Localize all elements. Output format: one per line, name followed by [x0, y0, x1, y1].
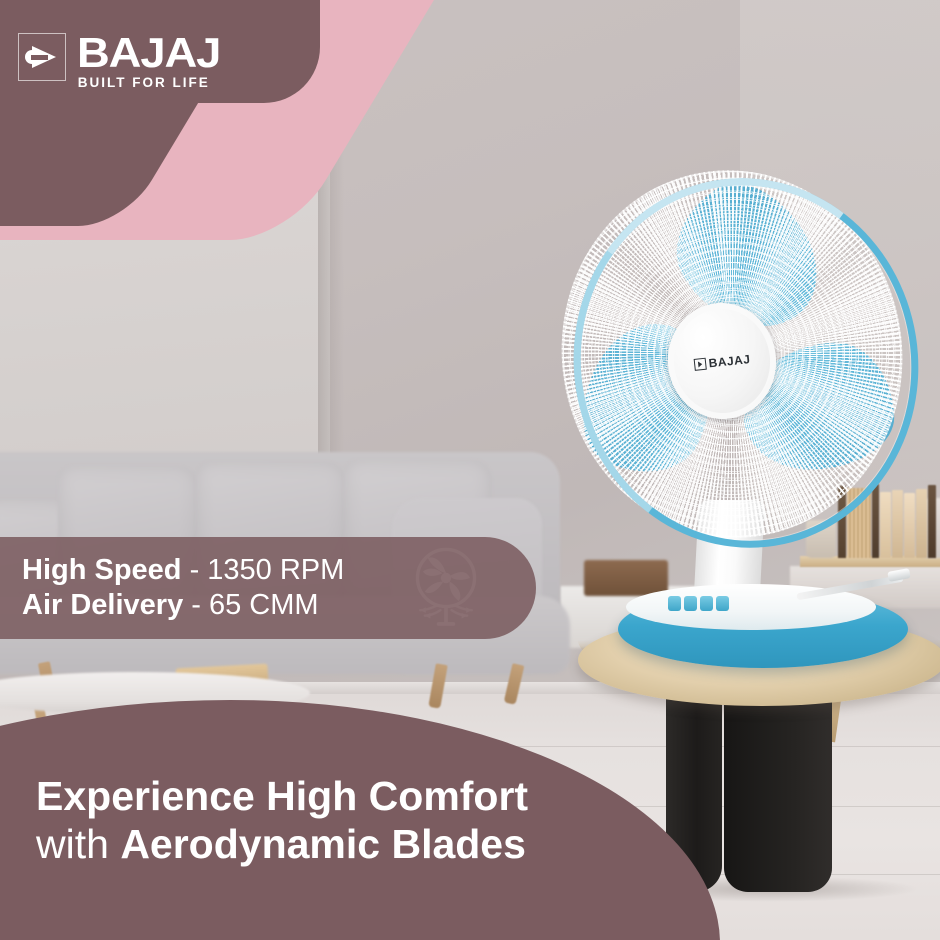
brand-tagline: BUILT FOR LIFE [77, 75, 210, 90]
bajaj-arrow-icon [18, 33, 66, 81]
brand-logo: BAJAJ BUILT FOR LIFE [18, 33, 210, 90]
fan-speed-buttons[interactable] [668, 596, 729, 611]
brand-logo-words: BAJAJ BUILT FOR LIFE [77, 33, 210, 90]
bajaj-arrow-icon [693, 358, 706, 371]
fan-handle-tip [887, 568, 910, 582]
headline-line-2-bold: Aerodynamic Blades [120, 821, 526, 867]
fan-speed-button-1[interactable] [668, 596, 681, 611]
feature-value-air-delivery: - 65 CMM [191, 589, 318, 621]
fan-hub-logo-text: BAJAJ [708, 352, 751, 370]
brand-name: BAJAJ [77, 33, 220, 72]
headline-line-2: with Aerodynamic Blades [36, 820, 528, 868]
feature-badge: High Speed - 1350 RPM Air Delivery - 65 … [0, 537, 536, 639]
fan-hub-logo: BAJAJ [693, 352, 751, 372]
side-table-base [724, 686, 832, 892]
feature-text-block: High Speed - 1350 RPM Air Delivery - 65 … [22, 553, 344, 623]
feature-label-high-speed: High Speed [22, 554, 182, 586]
headline-block: Experience High Comfort with Aerodynamic… [36, 772, 528, 869]
feature-row-high-speed: High Speed - 1350 RPM [22, 553, 344, 588]
feature-value-high-speed: - 1350 RPM [190, 554, 345, 586]
headline-line-1-text: Experience High Comfort [36, 773, 528, 819]
fan-speed-button-4[interactable] [716, 596, 729, 611]
product-table-fan: BAJAJ [556, 166, 940, 666]
headline-line-1: Experience High Comfort [36, 772, 528, 820]
feature-label-air-delivery: Air Delivery [22, 589, 183, 621]
fan-speed-button-3[interactable] [700, 596, 713, 611]
headline-line-2-light: with [36, 821, 120, 867]
poster-canvas: BAJAJ BAJAJ BUILT FOR LIFE High Speed - … [0, 0, 940, 940]
fan-speed-button-2[interactable] [684, 596, 697, 611]
logo-arrow-notch [31, 55, 48, 60]
feature-row-air-delivery: Air Delivery - 65 CMM [22, 588, 344, 623]
